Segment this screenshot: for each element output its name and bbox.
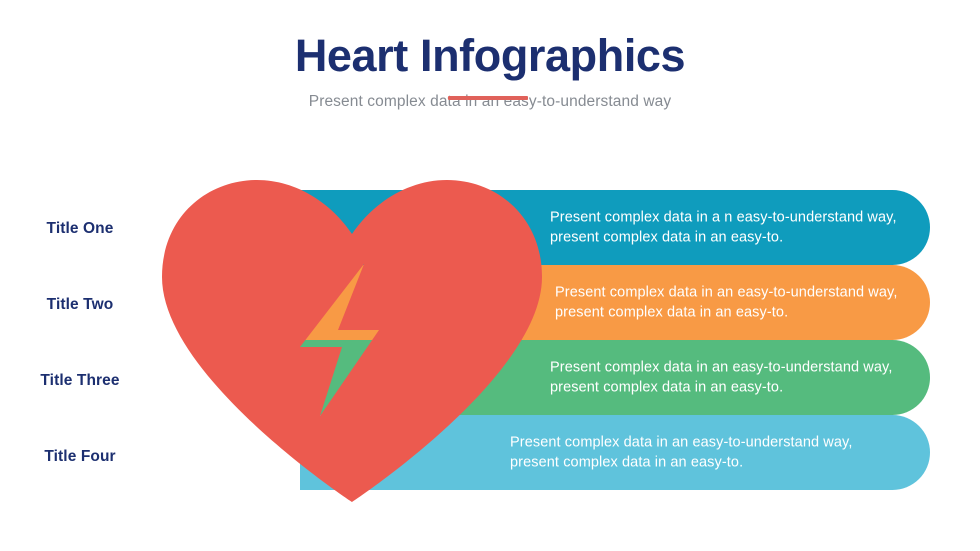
infographic-slide: Heart Infographics Present complex data …	[0, 0, 980, 551]
row-title-column: Title One Title Two Title Three Title Fo…	[0, 190, 160, 490]
description-bar-four[interactable]: Present complex data in an easy-to-under…	[300, 415, 930, 490]
description-bar-two[interactable]: Present complex data in an easy-to-under…	[300, 265, 930, 340]
page-title: Heart Infographics	[0, 32, 980, 79]
row-title-four: Title Four	[0, 448, 160, 466]
description-bar-one[interactable]: Present complex data in a n easy-to-unde…	[300, 190, 930, 265]
description-bar-stack: Present complex data in a n easy-to-unde…	[300, 190, 930, 490]
description-text-one: Present complex data in a n easy-to-unde…	[550, 207, 900, 248]
row-title-two: Title Two	[0, 296, 160, 314]
row-title-three: Title Three	[0, 372, 160, 390]
description-bar-three[interactable]: Present complex data in an easy-to-under…	[300, 340, 930, 415]
title-underline-accent	[448, 96, 528, 100]
description-text-two: Present complex data in an easy-to-under…	[555, 282, 900, 323]
row-title-one: Title One	[0, 220, 160, 238]
description-text-three: Present complex data in an easy-to-under…	[550, 357, 900, 398]
description-text-four: Present complex data in an easy-to-under…	[510, 432, 900, 473]
